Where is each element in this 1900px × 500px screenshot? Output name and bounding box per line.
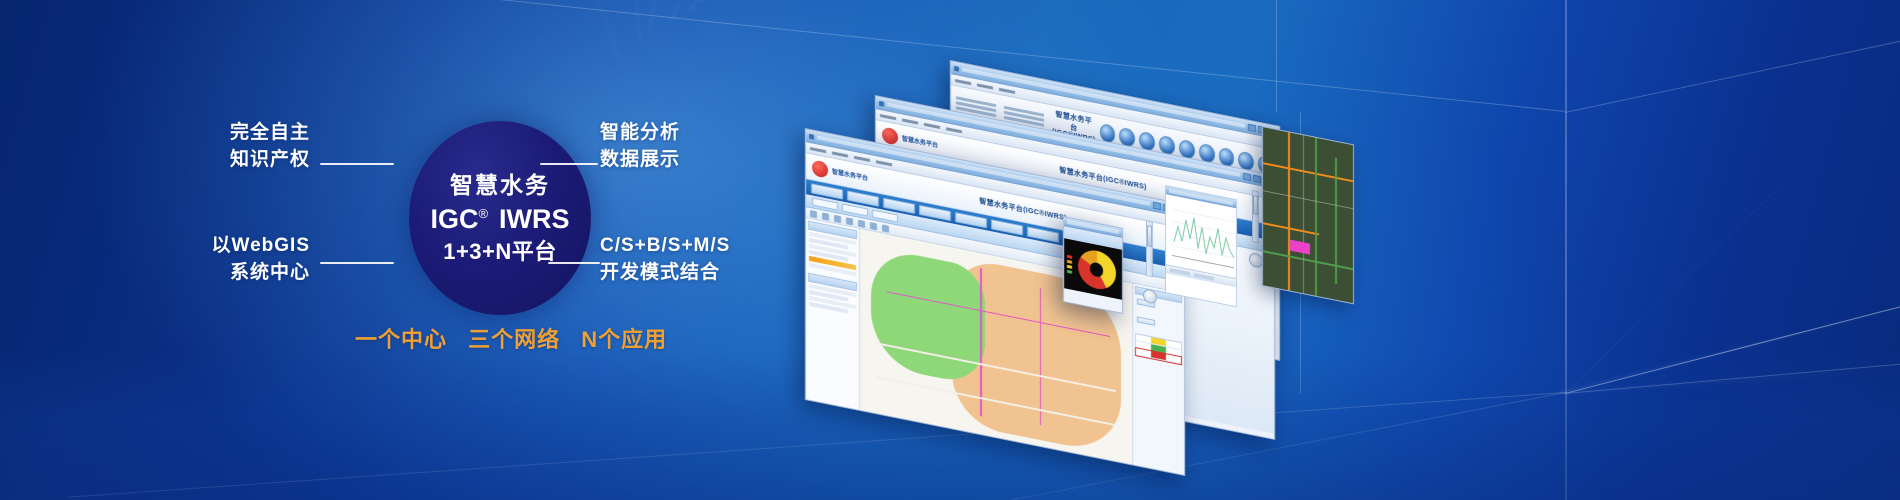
core-platform: 1+3+N平台 — [443, 241, 557, 263]
core-brand-iwrs: IWRS — [499, 204, 570, 234]
pan-tool-icon[interactable] — [810, 210, 817, 218]
donut-chart — [1078, 247, 1116, 293]
road-major — [1263, 162, 1353, 182]
attribute-side-panel[interactable] — [1132, 283, 1184, 476]
legend-entry — [1067, 270, 1072, 274]
coordinate-readout — [834, 417, 854, 425]
company-logo-icon — [812, 159, 828, 178]
feature-bottom-right: C/S+B/S+M/S 开发模式结合 — [600, 233, 820, 287]
feature-top-right: 智能分析 数据展示 — [600, 120, 800, 174]
tagline-part-2: 三个网络 — [468, 327, 560, 352]
feature-line2: 数据展示 — [600, 147, 800, 174]
feature-line2: 系统中心 — [150, 260, 310, 287]
feature-bottom-left: 以WebGIS 系统中心 — [150, 233, 310, 287]
legend-entry — [1067, 260, 1072, 264]
donut-legend — [1067, 255, 1072, 274]
pipeline-line — [980, 268, 982, 417]
brand-label-middle: 智慧水务平台 — [902, 133, 938, 149]
registered-mark-icon: ® — [478, 206, 488, 221]
brand-label-front: 智慧水务平台 — [832, 166, 868, 182]
core-brand-igc: IGC — [430, 204, 478, 234]
feature-top-left: 完全自主 知识产权 — [170, 120, 310, 174]
identify-tool-icon[interactable] — [870, 222, 877, 230]
legend-entry — [1067, 265, 1072, 269]
zoom-in-icon[interactable] — [822, 212, 829, 220]
feature-line2: 开发模式结合 — [600, 260, 820, 287]
road-local — [1303, 135, 1304, 293]
tagline: 一个中心 三个网络 N个应用 — [355, 322, 681, 354]
connector-top-left — [320, 163, 394, 165]
feature-line2: 知识产权 — [170, 147, 310, 174]
legend-entry — [1067, 255, 1072, 259]
status-text — [810, 412, 830, 420]
window-icon — [809, 133, 814, 139]
window-icon — [954, 65, 959, 71]
scrollbar-thumb[interactable] — [1253, 195, 1258, 215]
select-tool-icon[interactable] — [846, 217, 853, 225]
feature-line1: 以WebGIS — [212, 235, 311, 256]
analytics-popup-donut[interactable] — [1063, 216, 1123, 314]
core-badge: 智慧水务 IGC®IWRS 1+3+N平台 — [409, 121, 591, 315]
zoom-out-icon[interactable] — [834, 214, 841, 222]
connector-top-right — [540, 163, 598, 165]
road-major — [1288, 132, 1290, 290]
core-title: 智慧水务 — [450, 174, 550, 197]
map-zone-green — [871, 246, 985, 387]
road-local — [1263, 190, 1353, 209]
scrollbar-thumb[interactable] — [1147, 226, 1152, 248]
connector-bottom-right — [548, 262, 600, 264]
core-brand: IGC®IWRS — [430, 206, 569, 233]
feature-line1: 完全自主 — [230, 122, 310, 143]
window-icon — [879, 100, 884, 106]
road-minor — [1335, 157, 1337, 284]
hero-banner: 智慧水务平台(IGC®IWRS) — [0, 0, 1900, 500]
road-major — [1263, 222, 1319, 235]
company-logo-icon — [882, 126, 898, 145]
feature-line1: 智能分析 — [600, 122, 680, 143]
scale-readout — [858, 422, 878, 430]
print-icon[interactable] — [882, 224, 889, 232]
measure-tool-icon[interactable] — [858, 219, 865, 227]
pipeline-line — [1040, 288, 1041, 425]
road-minor — [1315, 138, 1317, 296]
satmap-vertical-scrollbar[interactable] — [1252, 190, 1259, 243]
tagline-part-1: 一个中心 — [355, 327, 447, 352]
analytics-popup-linechart[interactable] — [1165, 185, 1237, 307]
satellite-map-window[interactable] — [1262, 126, 1354, 304]
result-table[interactable] — [1135, 333, 1182, 365]
connector-bottom-left — [320, 262, 394, 264]
map-highlight-area — [1290, 240, 1310, 255]
tagline-part-3: N个应用 — [581, 327, 667, 352]
feature-line1: C/S+B/S+M/S — [600, 235, 730, 256]
clear-button[interactable] — [1137, 316, 1155, 326]
map-vertical-scrollbar[interactable] — [1146, 220, 1153, 277]
